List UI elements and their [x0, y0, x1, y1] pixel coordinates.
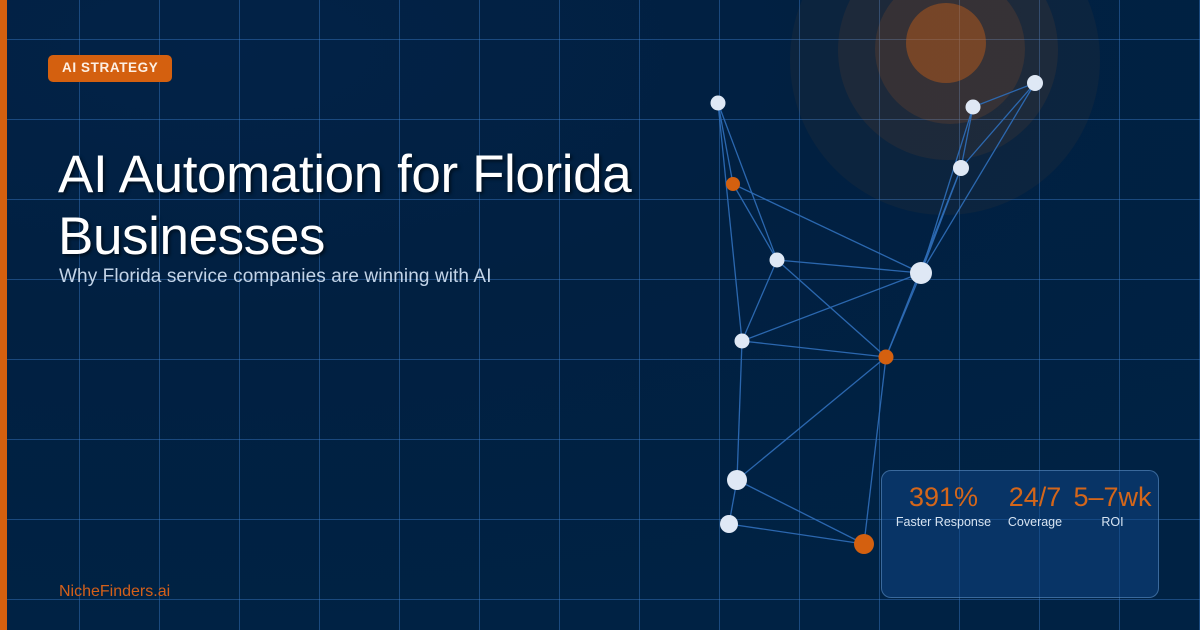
network-edge — [921, 168, 961, 273]
network-edge — [777, 260, 921, 273]
page-subtitle: Why Florida service companies are winnin… — [59, 266, 492, 288]
stat-item: 24/7 Coverage — [997, 482, 1073, 529]
title-line-1: AI Automation for Florida — [58, 145, 631, 204]
stat-label: Faster Response — [890, 515, 997, 529]
network-node — [726, 177, 740, 191]
network-edge — [737, 357, 886, 480]
stat-item: 5–7wk ROI — [1073, 482, 1152, 529]
stat-item: 391% Faster Response — [890, 482, 997, 529]
network-node — [966, 100, 981, 115]
network-edge — [961, 107, 973, 168]
stat-label: Coverage — [997, 515, 1073, 529]
network-edge — [973, 83, 1035, 107]
stat-label: ROI — [1073, 515, 1152, 529]
radial-glow-ring-outer — [790, 0, 1100, 215]
footer-brand: NicheFinders.ai — [59, 583, 170, 601]
network-edge — [921, 83, 1035, 273]
radial-glow-ring-mid — [838, 0, 1058, 160]
network-edge — [733, 184, 777, 260]
network-edge — [742, 260, 777, 341]
network-edge — [718, 103, 742, 341]
network-node — [854, 534, 874, 554]
page-title: AI Automation for Florida Businesses — [58, 144, 678, 268]
network-node — [711, 96, 726, 111]
network-node — [879, 350, 894, 365]
network-edge — [737, 480, 864, 544]
slide-canvas: AI STRATEGY AI Automation for Florida Bu… — [0, 0, 1200, 630]
network-edge — [737, 341, 742, 480]
network-edge — [777, 260, 886, 357]
title-line-2: Businesses — [58, 207, 325, 266]
network-edge — [718, 103, 777, 260]
network-node — [953, 160, 969, 176]
radial-glow-ring-inner — [875, 0, 1025, 124]
network-edge — [961, 83, 1035, 168]
network-edge — [718, 103, 733, 184]
network-edge — [733, 184, 921, 273]
left-accent-bar — [0, 0, 7, 630]
stat-value: 5–7wk — [1073, 482, 1152, 512]
network-edge — [729, 524, 864, 544]
network-edge — [886, 273, 921, 357]
network-node — [735, 334, 750, 349]
network-node — [720, 515, 738, 533]
network-edge — [742, 341, 886, 357]
network-node — [1027, 75, 1043, 91]
network-edge — [729, 480, 737, 524]
eyebrow-badge: AI STRATEGY — [48, 55, 172, 82]
network-node — [910, 262, 932, 284]
network-node — [770, 253, 785, 268]
radial-glow-core — [906, 3, 986, 83]
network-node — [727, 470, 747, 490]
network-edge — [742, 273, 921, 341]
stat-value: 24/7 — [997, 482, 1073, 512]
network-edge — [886, 168, 961, 357]
network-edge — [921, 107, 973, 273]
stats-card: 391% Faster Response 24/7 Coverage 5–7wk… — [881, 470, 1159, 598]
stats-row: 391% Faster Response 24/7 Coverage 5–7wk… — [882, 471, 1158, 529]
badge-label: AI STRATEGY — [62, 60, 158, 75]
stat-value: 391% — [890, 482, 997, 512]
